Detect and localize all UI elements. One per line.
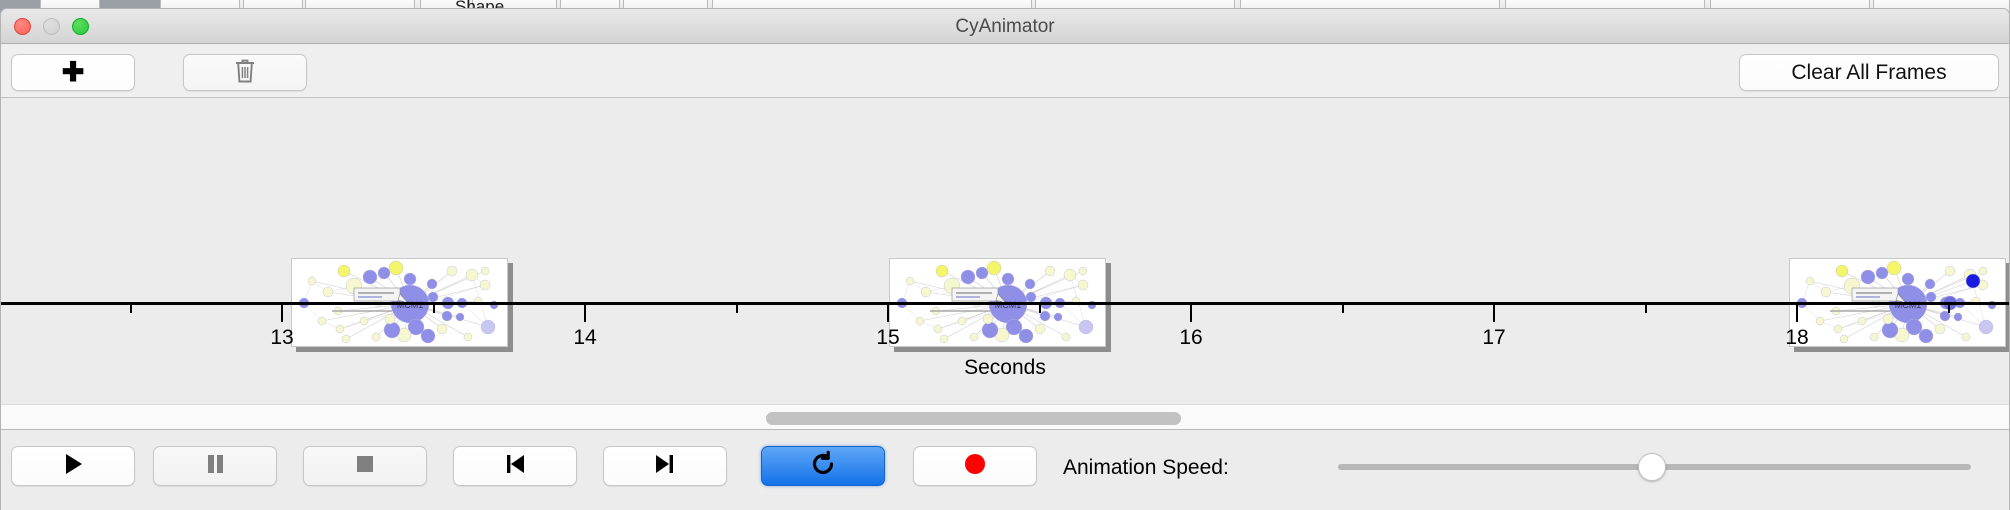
cyanimator-window: CyAnimator ✚ Clear All Frames — [0, 8, 2010, 510]
delete-frame-button[interactable] — [183, 54, 307, 91]
axis-line — [1, 302, 2009, 305]
record-icon — [962, 451, 988, 482]
stop-button — [303, 446, 427, 486]
axis-tick-major — [887, 304, 889, 322]
play-button[interactable] — [11, 446, 135, 486]
stop-icon — [352, 451, 378, 482]
time-axis: 2131415161718 Seconds — [1, 294, 2009, 404]
axis-tick-minor — [1039, 304, 1041, 313]
axis-tick-major — [584, 304, 586, 322]
slider-thumb[interactable] — [1638, 453, 1666, 481]
axis-tick-minor — [433, 304, 435, 313]
animation-speed-slider[interactable] — [1338, 464, 1971, 470]
play-icon — [60, 451, 86, 482]
add-frame-button[interactable]: ✚ — [11, 54, 135, 91]
title-bar[interactable]: CyAnimator — [1, 9, 2009, 44]
playback-control-bar: Animation Speed: — [1, 430, 2009, 502]
axis-tick-label: 13 — [270, 326, 293, 350]
loop-icon — [809, 450, 837, 483]
axis-tick-minor — [1342, 304, 1344, 313]
axis-tick-label: 16 — [1179, 326, 1202, 350]
axis-tick-major — [281, 304, 283, 322]
record-button[interactable] — [913, 446, 1037, 486]
plus-icon: ✚ — [62, 59, 85, 86]
pause-icon — [202, 451, 228, 482]
axis-tick-label: 17 — [1482, 326, 1505, 350]
axis-tick-minor — [1645, 304, 1647, 313]
scrollbar-thumb[interactable] — [766, 412, 1181, 425]
skip-back-button[interactable] — [453, 446, 577, 486]
timeline-scrollbar[interactable] — [1, 404, 2009, 430]
axis-tick-label: 18 — [1785, 326, 1808, 350]
clear-all-frames-button[interactable]: Clear All Frames — [1739, 54, 1999, 91]
axis-tick-minor — [736, 304, 738, 313]
toolbar: ✚ Clear All Frames — [1, 44, 2009, 98]
axis-tick-label: 15 — [876, 326, 899, 350]
axis-tick-major — [1796, 304, 1798, 322]
screen: Shape CyAnimator ✚ — [0, 0, 2010, 510]
window-title: CyAnimator — [1, 16, 2009, 38]
axis-tick-major — [1493, 304, 1495, 322]
trash-icon — [233, 57, 257, 89]
axis-tick-label: 14 — [573, 326, 596, 350]
axis-tick-major — [1190, 304, 1192, 322]
pause-button — [153, 446, 277, 486]
timeline-panel[interactable]: MCM1 MCM1 MCM1 2131415161718 Seconds — [1, 98, 2009, 404]
axis-title: Seconds — [1, 356, 2009, 380]
skip-forward-icon — [652, 451, 678, 482]
animation-speed-label: Animation Speed: — [1063, 456, 1229, 480]
loop-button[interactable] — [761, 446, 885, 486]
skip-backward-icon — [502, 451, 528, 482]
skip-forward-button[interactable] — [603, 446, 727, 486]
axis-tick-minor — [130, 304, 132, 313]
axis-tick-minor — [1948, 304, 1950, 313]
